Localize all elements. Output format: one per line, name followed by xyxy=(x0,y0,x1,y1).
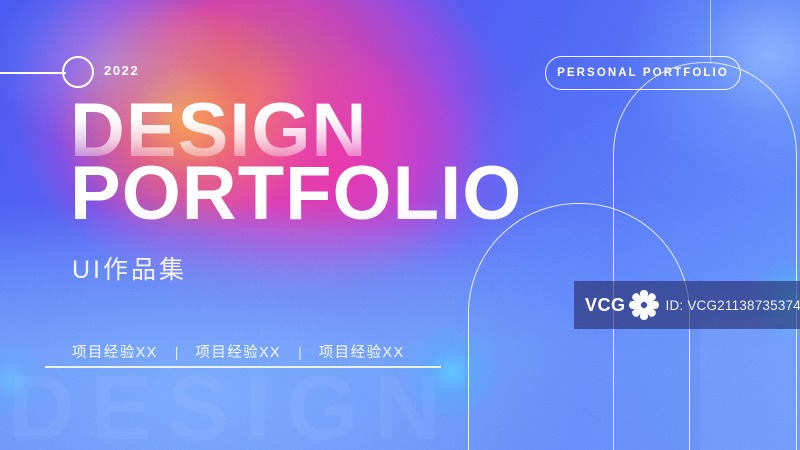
vcg-brand-label: VCG xyxy=(585,295,626,316)
experience-underline xyxy=(45,366,441,368)
vcg-image-id: ID: VCG211387353740 xyxy=(666,298,800,313)
experience-item-2: 项目经验XX xyxy=(195,341,281,362)
experience-item-1: 项目经验XX xyxy=(72,341,158,362)
personal-portfolio-badge[interactable]: PERSONAL PORTFOLIO xyxy=(545,56,741,90)
personal-portfolio-badge-label: PERSONAL PORTFOLIO xyxy=(557,67,729,79)
page-title: DESIGN PORTFOLIO xyxy=(70,98,522,228)
portfolio-poster: DESIGN 2022 PERSONAL PORTFOLIO DESIGN PO… xyxy=(0,0,800,450)
experience-separator-2: | xyxy=(298,344,302,360)
experience-separator-1: | xyxy=(175,344,179,360)
ghost-background-word: DESIGN xyxy=(8,362,457,450)
headline-subtitle: UI作品集 xyxy=(72,250,187,286)
year-label: 2022 xyxy=(104,63,139,78)
decorative-rectangle xyxy=(700,318,796,450)
headline-line-portfolio: PORTFOLIO xyxy=(70,161,522,228)
decorative-vertical-line xyxy=(710,0,711,62)
vcg-watermark: VCG ID: VCG211387353740 xyxy=(574,281,800,329)
experience-list: 项目经验XX | 项目经验XX | 项目经验XX xyxy=(72,341,405,362)
decorative-arch-right xyxy=(613,62,797,450)
year-circle-icon xyxy=(62,56,94,88)
vcg-pinwheel-icon xyxy=(627,288,661,322)
year-connector-line xyxy=(0,72,66,74)
experience-item-3: 项目经验XX xyxy=(319,341,405,362)
